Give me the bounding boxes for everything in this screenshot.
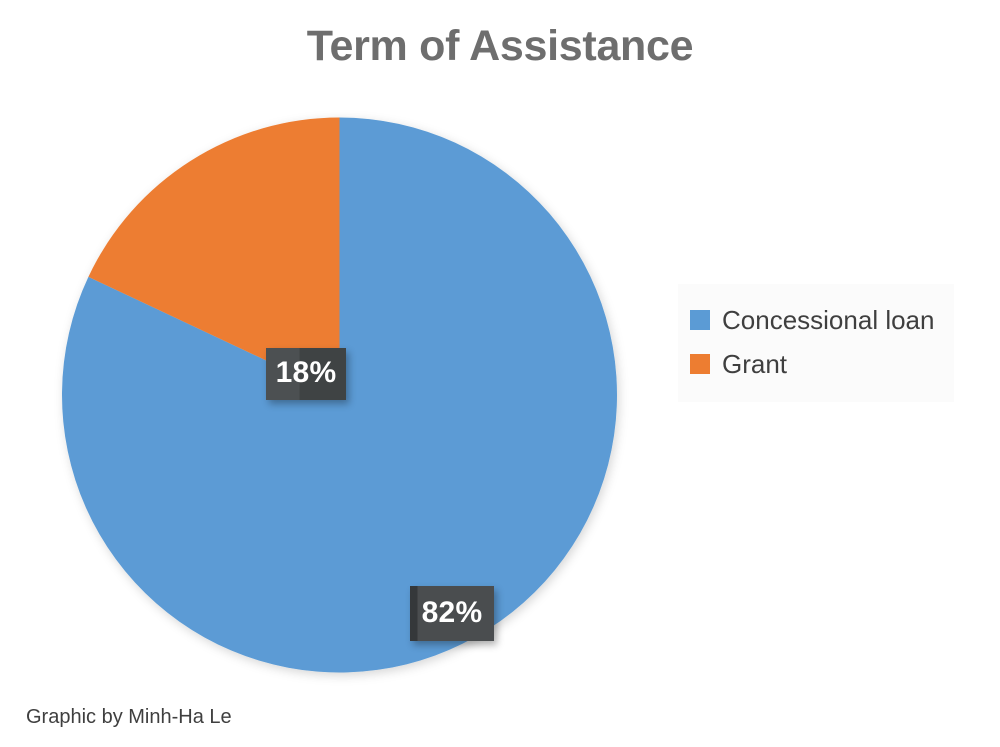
legend-label-grant: Grant xyxy=(722,351,787,377)
data-label-concessional-loan: 82% xyxy=(410,586,494,641)
legend-swatch-icon-grant xyxy=(690,354,710,374)
legend-swatch-icon-concessional-loan xyxy=(690,310,710,330)
data-label-grant: 18% xyxy=(266,348,346,400)
data-label-grant-text: 18% xyxy=(276,356,337,390)
legend-item-grant[interactable]: Grant xyxy=(678,342,954,386)
pie-chart-figure: Term of Assistance 18% 82% Concess xyxy=(0,0,1000,747)
plot-area: 18% 82% xyxy=(40,96,640,696)
chart-legend: Concessional loan Grant xyxy=(678,284,954,402)
chart-title: Term of Assistance xyxy=(0,22,1000,71)
legend-item-concessional-loan[interactable]: Concessional loan xyxy=(678,298,954,342)
legend-label-concessional-loan: Concessional loan xyxy=(722,307,934,333)
data-label-concessional-loan-text: 82% xyxy=(422,596,483,630)
graphic-credit: Graphic by Minh-Ha Le xyxy=(26,706,232,729)
